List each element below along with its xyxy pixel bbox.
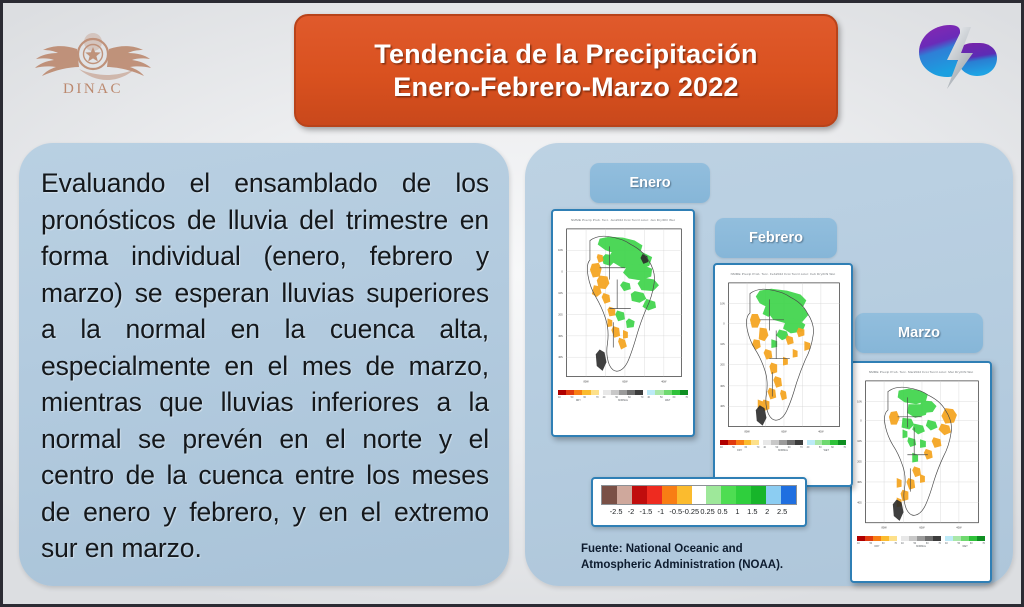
svg-text:10N: 10N — [720, 302, 725, 305]
map-plot-marzo: 10N 0 10S 20S 30S 40S 80W 60W 40W — [852, 377, 990, 534]
map-card-febrero[interactable]: NMME Precip Prob. Terc. Feb2022 Fcst Ter… — [713, 263, 853, 487]
svg-text:30S: 30S — [857, 481, 862, 484]
svg-text:30S: 30S — [720, 385, 725, 388]
svg-text:0: 0 — [860, 420, 862, 423]
south-america-map-marzo: 10N 0 10S 20S 30S 40S 80W 60W 40W — [852, 377, 990, 534]
colorbar-tick-labels: -2.5-2-1.5-1-0.5-0.250.250.511.522.5 — [601, 507, 797, 516]
colorbar-swatch-12 — [781, 486, 796, 504]
svg-text:20S: 20S — [720, 363, 725, 366]
mini-legend-label: WET — [647, 399, 688, 402]
colorbar-tick-10: 2 — [760, 507, 775, 516]
svg-text:80W: 80W — [881, 527, 887, 530]
colorbar-tick-1: -2 — [624, 507, 639, 516]
mini-legend-label: NORMAL — [603, 399, 644, 402]
colorbar-tick-4: -0.5 — [668, 507, 683, 516]
svg-text:0: 0 — [561, 271, 563, 274]
colorbar-tick-6: 0.25 — [700, 507, 715, 516]
mini-legend-label: NORMAL — [763, 449, 802, 452]
colorbar-swatch-0 — [602, 486, 617, 504]
storm-cloud-lightning-logo — [911, 15, 1003, 97]
svg-text:10N: 10N — [857, 400, 862, 403]
colorbar-tick-3: -1 — [653, 507, 668, 516]
colorbar-tick-0: -2.5 — [609, 507, 624, 516]
svg-text:20S: 20S — [558, 313, 563, 316]
colorbar-swatch-5 — [677, 486, 692, 504]
svg-text:60W: 60W — [622, 380, 628, 383]
colorbar-swatch-11 — [766, 486, 781, 504]
svg-text:80W: 80W — [583, 380, 589, 383]
mini-legend-wet: 40506070WET — [945, 536, 985, 548]
colorbar-swatches — [601, 485, 797, 505]
storm-cloud-lightning-icon — [911, 15, 1003, 97]
svg-text:60W: 60W — [781, 430, 787, 433]
svg-text:60W: 60W — [919, 527, 925, 530]
colorbar-swatch-9 — [736, 486, 751, 504]
svg-text:10S: 10S — [857, 440, 862, 443]
map-header-marzo: NMME Precip Prob. Terc. Mar2022 Fcst Ter… — [852, 363, 990, 377]
colorbar-swatch-6 — [692, 486, 707, 504]
title-line-2: Enero-Febrero-Marzo 2022 — [393, 72, 738, 103]
colorbar-swatch-10 — [751, 486, 766, 504]
dinac-logo-icon: DINAC — [27, 21, 159, 101]
maps-panel: Enero Febrero Marzo NMME Precip Prob. Te… — [525, 143, 1013, 586]
svg-text:40S: 40S — [720, 405, 725, 408]
south-america-map-enero: 10N 0 10S 20S 30S 40S 80W 60W 40W — [553, 225, 693, 388]
precipitation-colorbar-legend: -2.5-2-1.5-1-0.5-0.250.250.511.522.5 — [591, 477, 807, 527]
source-line-1: Fuente: National Oceanic and — [581, 541, 881, 557]
dinac-logo-text: DINAC — [63, 81, 123, 97]
slide-canvas: DINAC — [0, 0, 1024, 607]
colorbar-tick-9: 1.5 — [745, 507, 760, 516]
forecast-description-text: Evaluando el ensamblado de los pronóstic… — [41, 165, 489, 567]
map-mini-legend-enero: 40506070DRY 40506070NORMAL 40506070WET — [553, 388, 693, 405]
colorbar-swatch-7 — [706, 486, 721, 504]
colorbar-tick-7: 0.5 — [715, 507, 730, 516]
mini-legend-label: NORMAL — [901, 545, 941, 548]
svg-text:40W: 40W — [818, 430, 824, 433]
svg-text:40W: 40W — [956, 527, 962, 530]
mini-legend-label: WET — [807, 449, 846, 452]
svg-text:10S: 10S — [720, 343, 725, 346]
mini-legend-dry: 40506070DRY — [720, 440, 759, 452]
mini-legend-label: DRY — [558, 399, 599, 402]
svg-text:10N: 10N — [558, 249, 563, 252]
mini-legend-wet: 40506070WET — [647, 390, 688, 402]
svg-text:30S: 30S — [558, 335, 563, 338]
colorbar-tick-2: -1.5 — [638, 507, 653, 516]
source-attribution: Fuente: National Oceanic and Atmospheric… — [581, 541, 881, 573]
colorbar-swatch-8 — [721, 486, 736, 504]
mini-legend-normal: 40506070NORMAL — [763, 440, 802, 452]
svg-text:40W: 40W — [661, 380, 667, 383]
svg-text:0: 0 — [723, 323, 725, 326]
mini-legend-label: DRY — [720, 449, 759, 452]
mini-legend-wet: 40506070WET — [807, 440, 846, 452]
map-mini-legend-febrero: 40506070DRY 40506070NORMAL 40506070WET — [715, 438, 851, 455]
south-america-map-febrero: 10N 0 10S 20S 30S 40S 80W 60W 40W — [715, 279, 851, 438]
title-line-1: Tendencia de la Precipitación — [374, 39, 757, 70]
colorbar-tick-8: 1 — [730, 507, 745, 516]
colorbar-swatch-4 — [662, 486, 677, 504]
svg-text:80W: 80W — [744, 430, 750, 433]
map-header-febrero: NMME Precip Prob. Terc. Feb2022 Fcst Ter… — [715, 265, 851, 279]
map-plot-febrero: 10N 0 10S 20S 30S 40S 80W 60W 40W — [715, 279, 851, 438]
colorbar-tick-11: 2.5 — [775, 507, 790, 516]
colorbar-tick-5: -0.25 — [682, 507, 699, 516]
svg-text:40S: 40S — [558, 356, 563, 359]
svg-text:20S: 20S — [857, 461, 862, 464]
month-chip-febrero[interactable]: Febrero — [715, 218, 837, 258]
text-panel: Evaluando el ensamblado de los pronóstic… — [19, 143, 509, 586]
month-chip-marzo[interactable]: Marzo — [855, 313, 983, 353]
map-plot-enero: 10N 0 10S 20S 30S 40S 80W 60W 40W — [553, 225, 693, 388]
map-header-enero: NMME Precip Prob. Terc. Jan2022 Fcst Ter… — [553, 211, 693, 225]
svg-text:10S: 10S — [558, 292, 563, 295]
month-chip-enero[interactable]: Enero — [590, 163, 710, 203]
colorbar-swatch-1 — [617, 486, 632, 504]
dinac-logo: DINAC — [27, 21, 159, 101]
source-line-2: Atmospheric Administration (NOAA). — [581, 557, 881, 573]
mini-legend-dry: 40506070DRY — [558, 390, 599, 402]
mini-legend-normal: 40506070NORMAL — [901, 536, 941, 548]
mini-legend-label: WET — [945, 545, 985, 548]
mini-legend-normal: 40506070NORMAL — [603, 390, 644, 402]
colorbar-swatch-3 — [647, 486, 662, 504]
svg-text:40S: 40S — [857, 501, 862, 504]
map-card-enero[interactable]: NMME Precip Prob. Terc. Jan2022 Fcst Ter… — [551, 209, 695, 437]
title-banner: Tendencia de la Precipitación Enero-Febr… — [294, 14, 838, 127]
colorbar-swatch-2 — [632, 486, 647, 504]
